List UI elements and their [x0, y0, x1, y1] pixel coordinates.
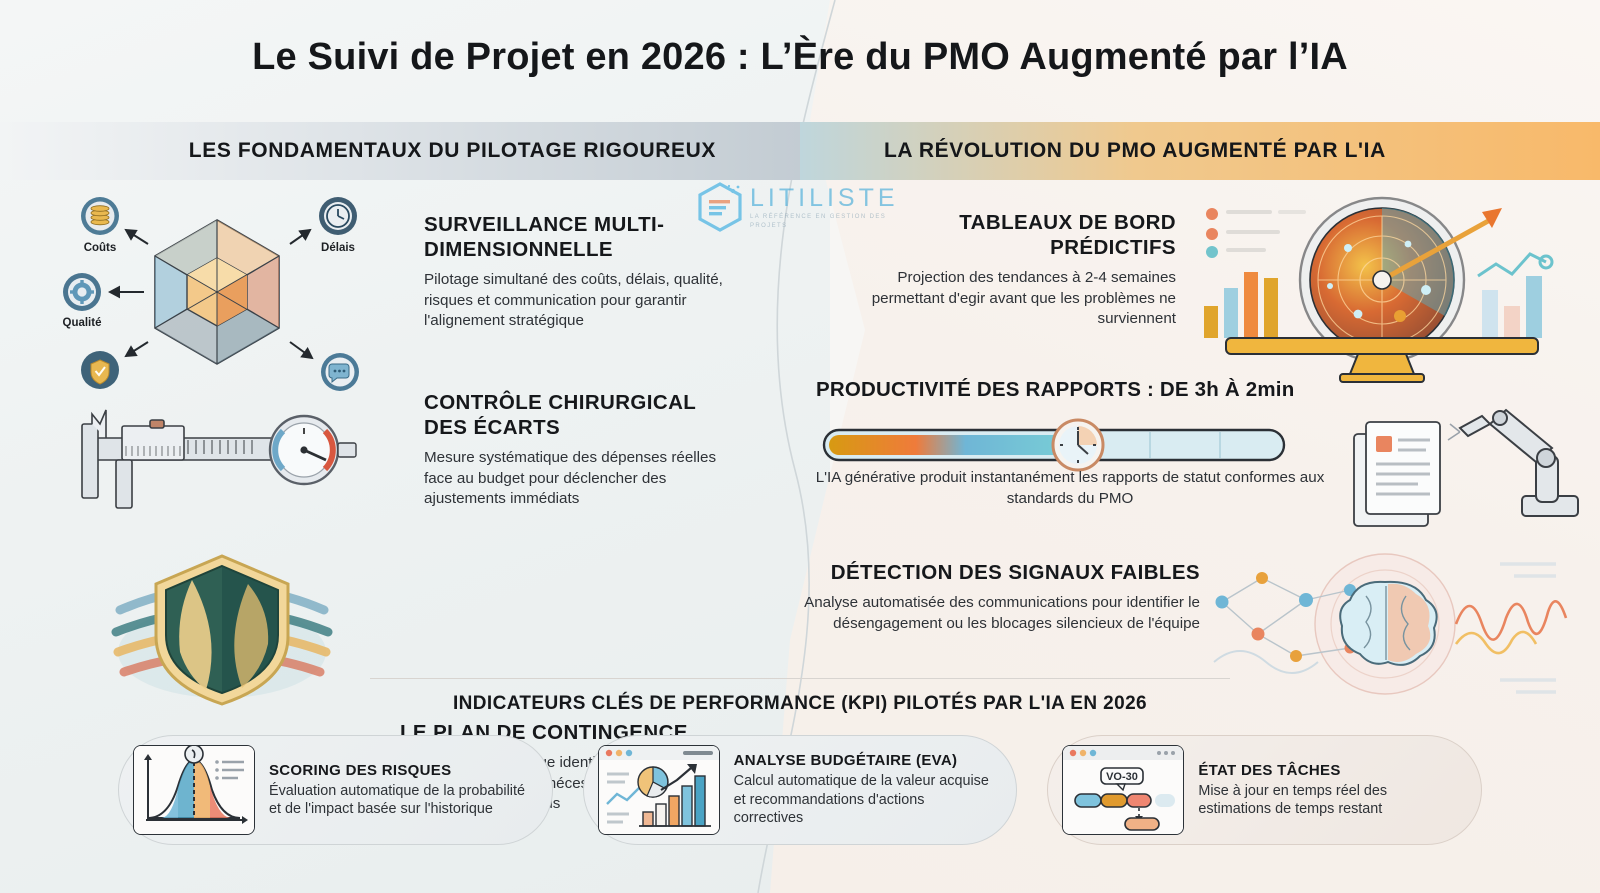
left-item-surveillance-title: SURVEILLANCE MULTI-DIMENSIONNELLE	[424, 212, 744, 262]
robot-arm-report-illustration	[1340, 400, 1590, 530]
banner-right-label: LA RÉVOLUTION DU PMO AUGMENTÉ PAR L'IA	[884, 139, 1386, 163]
kpi-divider	[370, 678, 1230, 679]
node-label-couts: Coûts	[84, 242, 117, 254]
right-item-dashboards-body: Projection des tendances à 2-4 semaines …	[846, 268, 1176, 330]
right-item-productivity-header: PRODUCTIVITÉ DES RAPPORTS : DE 3h À 2min	[816, 378, 1336, 402]
right-item-signals-body: Analyse automatisée des communications p…	[800, 593, 1200, 634]
brain-network-illustration	[1200, 538, 1590, 713]
kpi-card-budget-text: ANALYSE BUDGÉTAIRE (EVA) Calcul automati…	[734, 752, 995, 827]
right-item-dashboards-title: TABLEAUX DE BORD PRÉDICTIFS	[846, 210, 1176, 260]
infographic-page: Le Suivi de Projet en 2026 : L’Ère du PM…	[0, 0, 1600, 893]
right-item-dashboards-text: TABLEAUX DE BORD PRÉDICTIFS Projection d…	[846, 210, 1176, 330]
right-item-productivity: PRODUCTIVITÉ DES RAPPORTS : DE 3h À 2min	[800, 378, 1600, 538]
kpi-card-scoring-title: SCORING DES RISQUES	[269, 762, 530, 779]
caliper-gauge-illustration	[62, 398, 382, 528]
left-item-surveillance: Coûts Délais	[0, 188, 770, 368]
kpi-card-scoring-text: SCORING DES RISQUES Évaluation automatiq…	[269, 762, 530, 819]
shield-swirl-illustration	[72, 540, 372, 710]
banner-left-label: LES FONDAMENTAUX DU PILOTAGE RIGOUREUX	[189, 139, 716, 163]
kpi-card-analyse-budgetaire[interactable]: ANALYSE BUDGÉTAIRE (EVA) Calcul automati…	[583, 735, 1018, 845]
task-badge-label: VO-30	[1106, 771, 1138, 783]
right-item-productivity-body: L'IA générative produit instantanément l…	[810, 468, 1330, 509]
banner-revolution: LA RÉVOLUTION DU PMO AUGMENTÉ PAR L'IA	[800, 122, 1600, 180]
crystal-ball-radar-illustration	[1190, 188, 1590, 383]
task-timeline-icon: VO-30	[1062, 745, 1184, 835]
left-item-ecarts-body: Mesure systématique des dépenses réelles…	[424, 448, 744, 510]
right-item-dashboards: TABLEAUX DE BORD PRÉDICTIFS Projection d…	[800, 188, 1600, 378]
kpi-card-scoring-body: Évaluation automatique de la probabilité…	[269, 782, 530, 819]
page-title: Le Suivi de Projet en 2026 : L’Ère du PM…	[0, 34, 1600, 80]
kpi-card-scoring-risques[interactable]: SCORING DES RISQUES Évaluation automatiq…	[118, 735, 553, 845]
right-item-productivity-title: PRODUCTIVITÉ DES RAPPORTS : DE 3h À 2min	[816, 378, 1336, 402]
dashboard-charts-icon	[598, 745, 720, 835]
kpi-card-budget-title: ANALYSE BUDGÉTAIRE (EVA)	[734, 752, 995, 769]
node-couts: Coûts	[81, 197, 119, 254]
kpi-card-budget-body: Calcul automatique de la valeur acquise …	[734, 772, 995, 827]
right-item-signals: DÉTECTION DES SIGNAUX FAIBLES Analyse au…	[800, 538, 1600, 718]
left-item-surveillance-body: Pilotage simultané des coûts, délais, qu…	[424, 270, 744, 332]
left-item-ecarts-text: CONTRÔLE CHIRURGICAL DES ÉCARTS Mesure s…	[424, 390, 744, 510]
right-item-signals-text: DÉTECTION DES SIGNAUX FAIBLES Analyse au…	[800, 560, 1200, 634]
hex-polyhedron-diagram: Coûts Délais	[52, 192, 382, 392]
left-item-ecarts-title: CONTRÔLE CHIRURGICAL DES ÉCARTS	[424, 390, 744, 440]
right-item-signals-title: DÉTECTION DES SIGNAUX FAIBLES	[800, 560, 1200, 585]
left-item-surveillance-text: SURVEILLANCE MULTI-DIMENSIONNELLE Pilota…	[424, 212, 744, 332]
bell-curve-chart-icon	[133, 745, 255, 835]
kpi-card-taches-text: ÉTAT DES TÂCHES Mise à jour en temps rée…	[1198, 762, 1459, 819]
right-item-productivity-text: L'IA générative produit instantanément l…	[810, 468, 1330, 509]
node-label-delais: Délais	[321, 242, 355, 254]
left-item-contingence: LE PLAN DE CONTINGENCE Un bouclier dynam…	[0, 538, 770, 718]
kpi-card-list: SCORING DES RISQUES Évaluation automatiq…	[118, 735, 1482, 845]
title-band: Le Suivi de Projet en 2026 : L’Ère du PM…	[0, 0, 1600, 122]
left-item-ecarts: CONTRÔLE CHIRURGICAL DES ÉCARTS Mesure s…	[0, 378, 770, 548]
kpi-card-etat-taches[interactable]: VO-30 ÉTAT DES TÂCHES Mise à jour en tem…	[1047, 735, 1482, 845]
kpi-card-taches-title: ÉTAT DES TÂCHES	[1198, 762, 1459, 779]
node-delais: Délais	[319, 197, 357, 254]
node-label-qualite: Qualité	[63, 317, 102, 329]
kpi-section-title: INDICATEURS CLÉS DE PERFORMANCE (KPI) PI…	[0, 693, 1600, 715]
node-qualite: Qualité	[63, 273, 102, 329]
banner-fundamentals: LES FONDAMENTAUX DU PILOTAGE RIGOUREUX	[0, 122, 800, 180]
kpi-card-taches-body: Mise à jour en temps réel des estimation…	[1198, 782, 1459, 819]
